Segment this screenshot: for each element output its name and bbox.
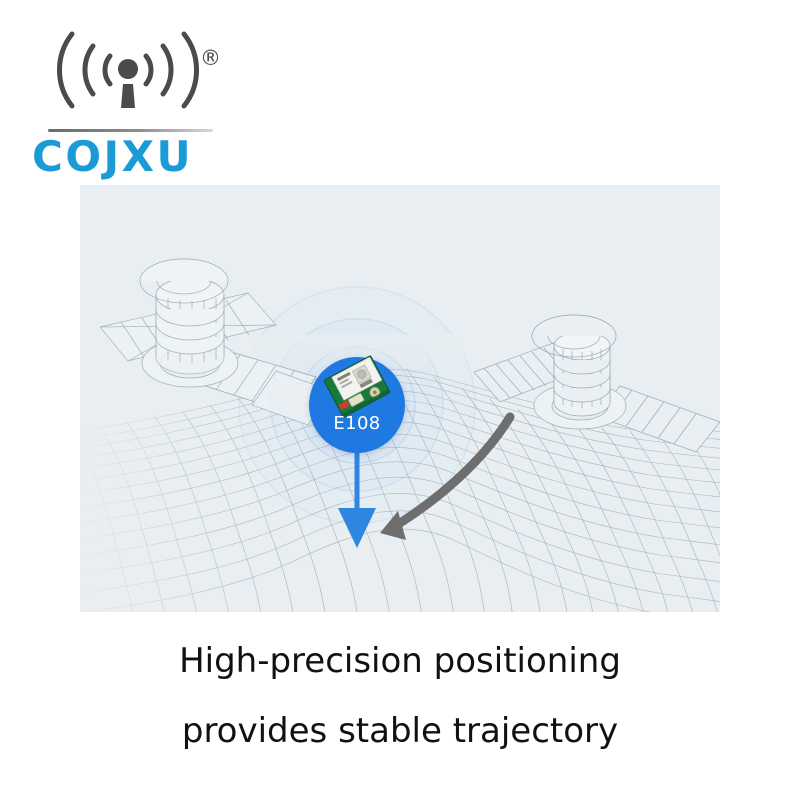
brand-logo: ® COJXU bbox=[32, 22, 262, 162]
caption-line-1: High-precision positioning bbox=[0, 626, 800, 696]
caption-line-2: provides stable trajectory bbox=[0, 696, 800, 766]
caption-block: High-precision positioning provides stab… bbox=[0, 626, 800, 766]
registered-trademark-icon: ® bbox=[200, 48, 221, 69]
hero-illustration-panel: E108 bbox=[80, 185, 720, 612]
satellite-overlay bbox=[470, 310, 720, 460]
antenna-signal-icon bbox=[38, 22, 218, 118]
gnss-module-pcb-icon bbox=[323, 355, 391, 418]
brand-wordmark: COJXU bbox=[32, 132, 193, 181]
product-badge[interactable]: E108 bbox=[309, 357, 405, 453]
product-badge-label: E108 bbox=[309, 413, 405, 434]
